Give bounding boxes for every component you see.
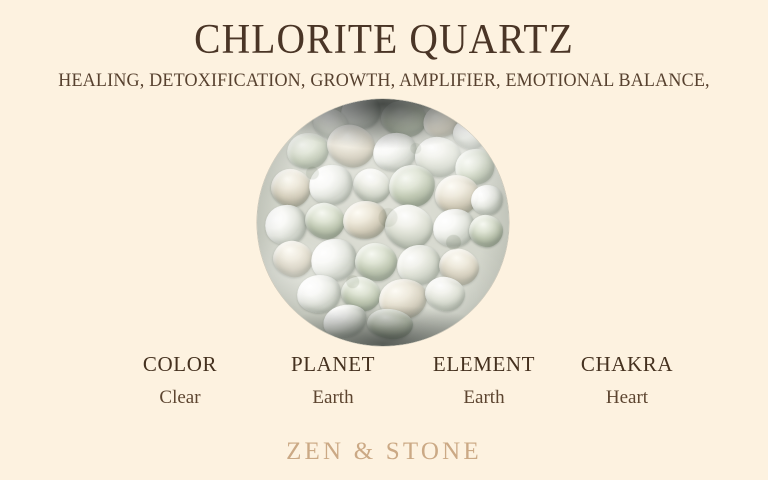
attribute-value: Earth [273, 386, 393, 410]
attribute-value: Earth [414, 386, 554, 410]
glass-bowl [257, 99, 509, 346]
attribute-element: ELEMENT Earth [414, 352, 554, 410]
attribute-color: COLOR Clear [120, 352, 240, 410]
brand-logo: ZEN & STONE [0, 437, 768, 467]
attribute-label: ELEMENT [414, 352, 554, 377]
tumbled-stones [257, 99, 509, 346]
attribute-row: COLOR Clear PLANET Earth ELEMENT Earth C… [0, 352, 768, 414]
attribute-label: COLOR [120, 352, 240, 377]
crystal-properties-subtitle: HEALING, DETOXIFICATION, GROWTH, AMPLIFI… [19, 69, 749, 92]
crystal-photo [257, 99, 509, 346]
crystal-info-card: CHLORITE QUARTZ HEALING, DETOXIFICATION,… [0, 0, 768, 480]
attribute-planet: PLANET Earth [273, 352, 393, 410]
attribute-value: Clear [120, 386, 240, 410]
page-title: CHLORITE QUARTZ [23, 16, 745, 64]
attribute-value: Heart [567, 386, 687, 410]
attribute-label: PLANET [273, 352, 393, 377]
attribute-label: CHAKRA [567, 352, 687, 377]
attribute-chakra: CHAKRA Heart [567, 352, 687, 410]
